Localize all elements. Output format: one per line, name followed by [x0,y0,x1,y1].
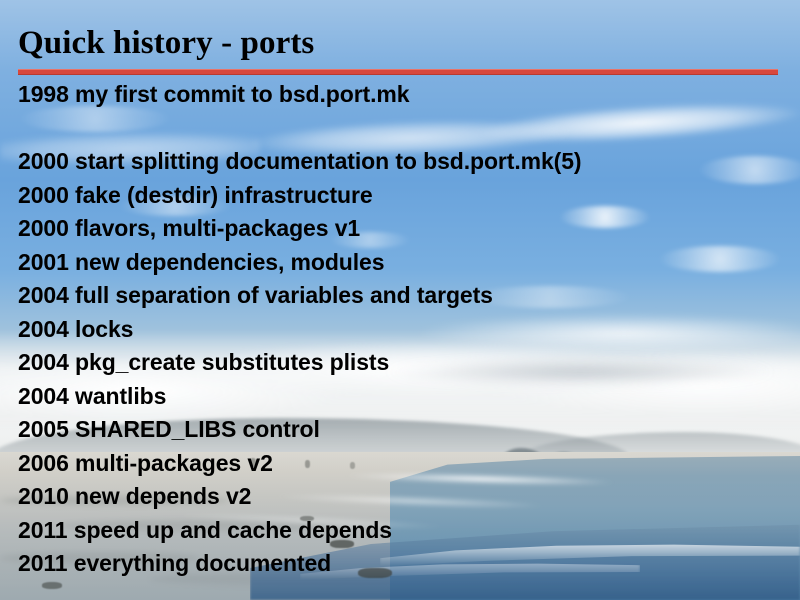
page-title: Quick history - ports [18,24,314,62]
presentation-slide: Quick history - ports 1998 my first comm… [0,0,800,600]
list-item: 2006 multi-packages v2 [18,447,788,481]
list-item-spacer [18,112,788,146]
list-item: 2011 everything documented [18,547,788,581]
list-item: 2005 SHARED_LIBS control [18,413,788,447]
list-item: 1998 my first commit to bsd.port.mk [18,78,788,112]
history-list: 1998 my first commit to bsd.port.mk 2000… [18,78,788,581]
list-item: 2000 fake (destdir) infrastructure [18,179,788,213]
list-item: 2000 start splitting documentation to bs… [18,145,788,179]
title-underline-rule [18,69,778,75]
list-item: 2001 new dependencies, modules [18,246,788,280]
list-item: 2004 locks [18,313,788,347]
list-item: 2004 full separation of variables and ta… [18,279,788,313]
list-item: 2000 flavors, multi-packages v1 [18,212,788,246]
list-item: 2004 wantlibs [18,380,788,414]
list-item: 2010 new depends v2 [18,480,788,514]
list-item: 2004 pkg_create substitutes plists [18,346,788,380]
slide-content: Quick history - ports 1998 my first comm… [0,0,800,600]
list-item: 2011 speed up and cache depends [18,514,788,548]
